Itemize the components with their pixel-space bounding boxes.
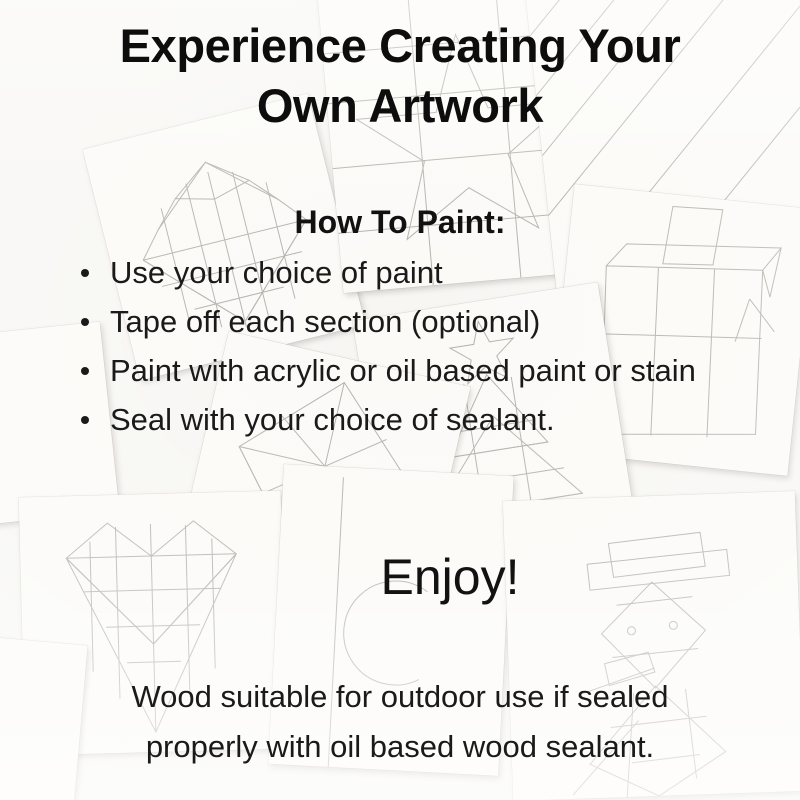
- list-item-label: Use your choice of paint: [110, 255, 443, 290]
- list-item: Paint with acrylic or oil based paint or…: [72, 346, 772, 395]
- list-item: Tape off each section (optional): [72, 297, 772, 346]
- list-item: Seal with your choice of sealant.: [72, 395, 772, 444]
- list-item: Use your choice of paint: [72, 248, 772, 297]
- bullet-dot-icon: [81, 318, 89, 326]
- bullet-dot-icon: [81, 367, 89, 375]
- how-to-paint-heading: How To Paint:: [0, 202, 800, 242]
- list-item-label: Tape off each section (optional): [110, 304, 540, 339]
- footnote-line-1: Wood suitable for outdoor use if sealed: [0, 672, 800, 722]
- enjoy-callout: Enjoy!: [0, 546, 800, 608]
- footnote: Wood suitable for outdoor use if sealed …: [0, 672, 800, 772]
- list-item-label: Paint with acrylic or oil based paint or…: [110, 353, 696, 388]
- instructions-list: Use your choice of paint Tape off each s…: [72, 248, 772, 444]
- page-title-line-1: Experience Creating Your: [0, 16, 800, 76]
- bullet-dot-icon: [81, 269, 89, 277]
- footnote-line-2: properly with oil based wood sealant.: [0, 722, 800, 772]
- text-overlay: Experience Creating Your Own Artwork How…: [0, 0, 800, 800]
- page-title: Experience Creating Your Own Artwork: [0, 16, 800, 136]
- list-item-label: Seal with your choice of sealant.: [110, 402, 555, 437]
- page-title-line-2: Own Artwork: [0, 76, 800, 136]
- bullet-dot-icon: [81, 416, 89, 424]
